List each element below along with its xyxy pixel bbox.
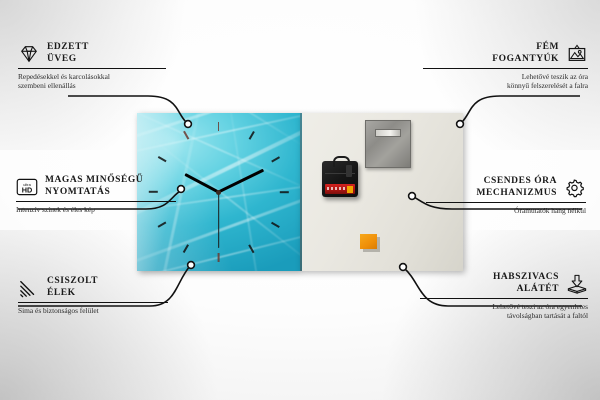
feature-foam-pad: HABSZIVACS ALÁTÉT Lehetővé teszi az óra … [404,272,588,321]
feature-title-line1: EDZETT [47,42,89,52]
feature-silent-mechanism: CSENDES ÓRA MECHANIZMUS Óramutatók hang … [410,176,586,215]
svg-text:HD: HD [22,185,33,194]
feature-header: ultra HD MAGAS MINŐSÉGŰ NYOMTATÁS [16,175,192,198]
feature-rule [16,201,176,202]
feature-rule [18,68,166,69]
picture-frame-hanger-icon [566,44,588,64]
battery-label [327,187,347,190]
mechanism-shaft [346,165,352,177]
feature-tempered-glass: EDZETT ÜVEG Repedésekkel és karcolásokka… [18,42,188,91]
polished-edges-icon [18,278,40,298]
feature-subtitle: Sima és biztonságos felület [18,306,184,315]
feature-rule [423,68,588,69]
feature-header: CSENDES ÓRA MECHANIZMUS [410,176,586,199]
feature-rule [18,302,168,303]
feature-rule [426,202,586,203]
feature-polished-edges: CSISZOLT ÉLEK Sima és biztonságos felüle… [18,276,184,315]
battery-plus-terminal [347,186,353,193]
feature-subtitle: Lehetővé teszi az óra egyenletes távolsá… [404,302,588,321]
foam-spacer-pad [360,234,377,249]
feature-high-quality-print: ultra HD MAGAS MINŐSÉGŰ NYOMTATÁS Intenz… [16,175,192,214]
diamond-icon [18,44,40,64]
feature-header: EDZETT ÜVEG [18,42,188,65]
clock-center-pin [216,190,221,195]
feature-title-line1: FÉM [536,42,559,52]
feature-title-line2: ÉLEK [47,288,76,298]
feature-title-line2: MECHANIZMUS [477,188,557,198]
feature-subtitle: Lehetővé teszik az óra könnyű felszerelé… [406,72,588,91]
panel-edge [300,113,302,271]
hanger-slot [375,129,401,137]
feature-subtitle: Repedésekkel és karcolásokkal szembeni e… [18,72,188,91]
feature-metal-handles: FÉM FOGANTYÚK Lehetővé teszik az óra kön… [406,42,588,91]
metal-hanger-bracket [365,120,411,168]
feature-subtitle: Óramutatók hang nélkül [410,206,586,215]
feature-rule [420,298,588,299]
infographic-canvas: EDZETT ÜVEG Repedésekkel és karcolásokka… [0,0,600,400]
feature-header: CSISZOLT ÉLEK [18,276,184,299]
clock-second-hand [218,192,219,248]
feature-subtitle: Intenzív színek és éles kép [16,205,192,214]
clock-minute-hand [218,169,264,194]
feature-title-line2: NYOMTATÁS [45,187,110,197]
feature-title-line1: CSISZOLT [47,276,98,286]
feature-header: FÉM FOGANTYÚK [406,42,588,65]
connector-line-4 [462,96,580,122]
battery [325,184,355,194]
feature-title-line2: ÜVEG [47,54,77,64]
ultra-hd-badge-icon: ultra HD [16,177,38,197]
feature-title-line2: FOGANTYÚK [492,54,559,64]
feature-header: HABSZIVACS ALÁTÉT [404,272,588,295]
foam-pad-arrow-icon [566,274,588,294]
feature-title-line2: ALÁTÉT [517,284,559,294]
feature-title-line1: CSENDES ÓRA [484,176,557,186]
feature-title-line1: MAGAS MINŐSÉGŰ [45,175,143,185]
clock-mechanism [322,161,358,197]
feature-title-line1: HABSZIVACS [493,272,559,282]
gear-icon [564,178,586,198]
